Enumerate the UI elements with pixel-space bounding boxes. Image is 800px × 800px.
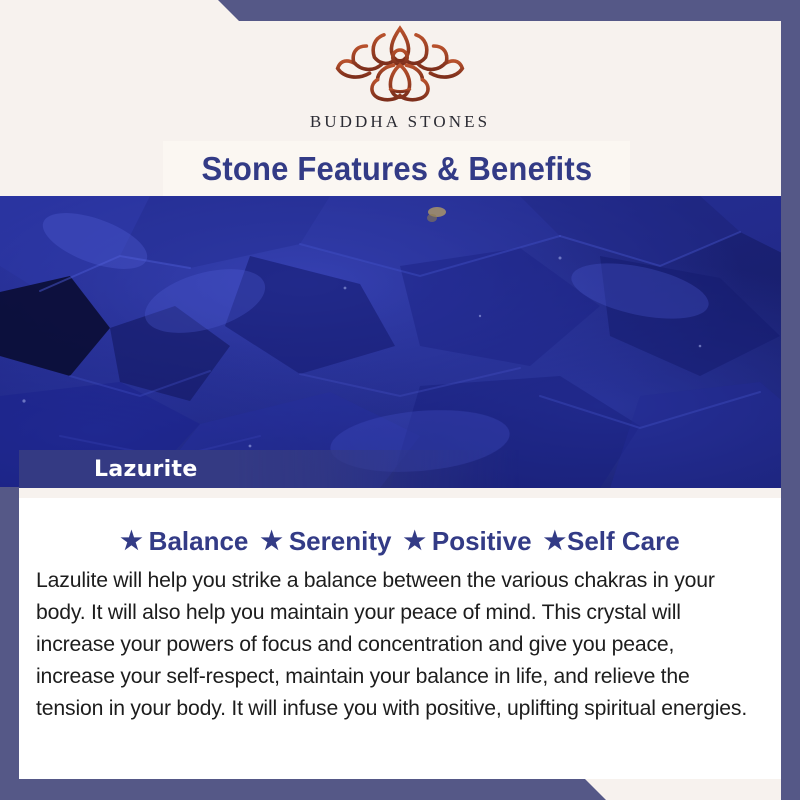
brand-name: BUDDHA STONES	[310, 112, 490, 132]
lotus-meditation-icon	[320, 22, 480, 104]
star-icon: ★	[544, 529, 566, 554]
stone-photo	[0, 196, 800, 488]
frame-left-accent	[0, 487, 19, 800]
benefit-label: Positive	[432, 526, 532, 557]
benefit-label: Self Care	[567, 526, 680, 557]
benefit-item-serenity: ★ Serenity	[260, 526, 391, 557]
benefit-item-positive: ★ Positive	[403, 526, 531, 557]
content-card: ★ Balance ★ Serenity ★ Positive ★ Self C…	[19, 489, 781, 779]
stone-name-banner: Lazurite	[19, 450, 519, 488]
benefit-label: Balance	[149, 526, 249, 557]
star-icon: ★	[260, 529, 282, 554]
stone-description: Lazulite will help you strike a balance …	[36, 565, 754, 725]
star-icon: ★	[120, 529, 142, 554]
page-title-banner: Stone Features & Benefits	[163, 141, 630, 196]
benefit-item-self-care: ★ Self Care	[544, 526, 680, 557]
benefit-item-balance: ★ Balance	[120, 526, 248, 557]
frame-right-accent	[781, 0, 800, 800]
brand-header: BUDDHA STONES	[0, 0, 800, 148]
benefits-list: ★ Balance ★ Serenity ★ Positive ★ Self C…	[19, 526, 781, 557]
star-icon: ★	[403, 529, 425, 554]
poster-root: BUDDHA STONES	[0, 0, 800, 800]
frame-bottom-accent	[0, 779, 800, 800]
stone-name: Lazurite	[94, 457, 198, 482]
page-title: Stone Features & Benefits	[201, 150, 592, 188]
benefit-label: Serenity	[289, 526, 392, 557]
